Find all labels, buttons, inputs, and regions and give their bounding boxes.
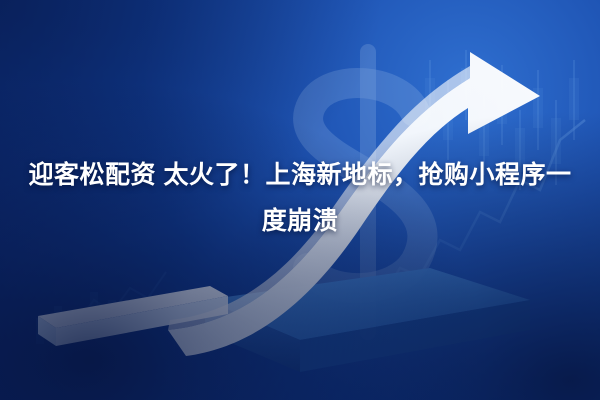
headline-line-2: 度崩溃 xyxy=(18,198,582,244)
headline-line-1: 迎客松配资 太火了！上海新地标，抢购小程序一 xyxy=(18,152,582,198)
headline-text: 迎客松配资 太火了！上海新地标，抢购小程序一 度崩溃 xyxy=(0,152,600,244)
promo-image: 迎客松配资 太火了！上海新地标，抢购小程序一 度崩溃 xyxy=(0,0,600,400)
